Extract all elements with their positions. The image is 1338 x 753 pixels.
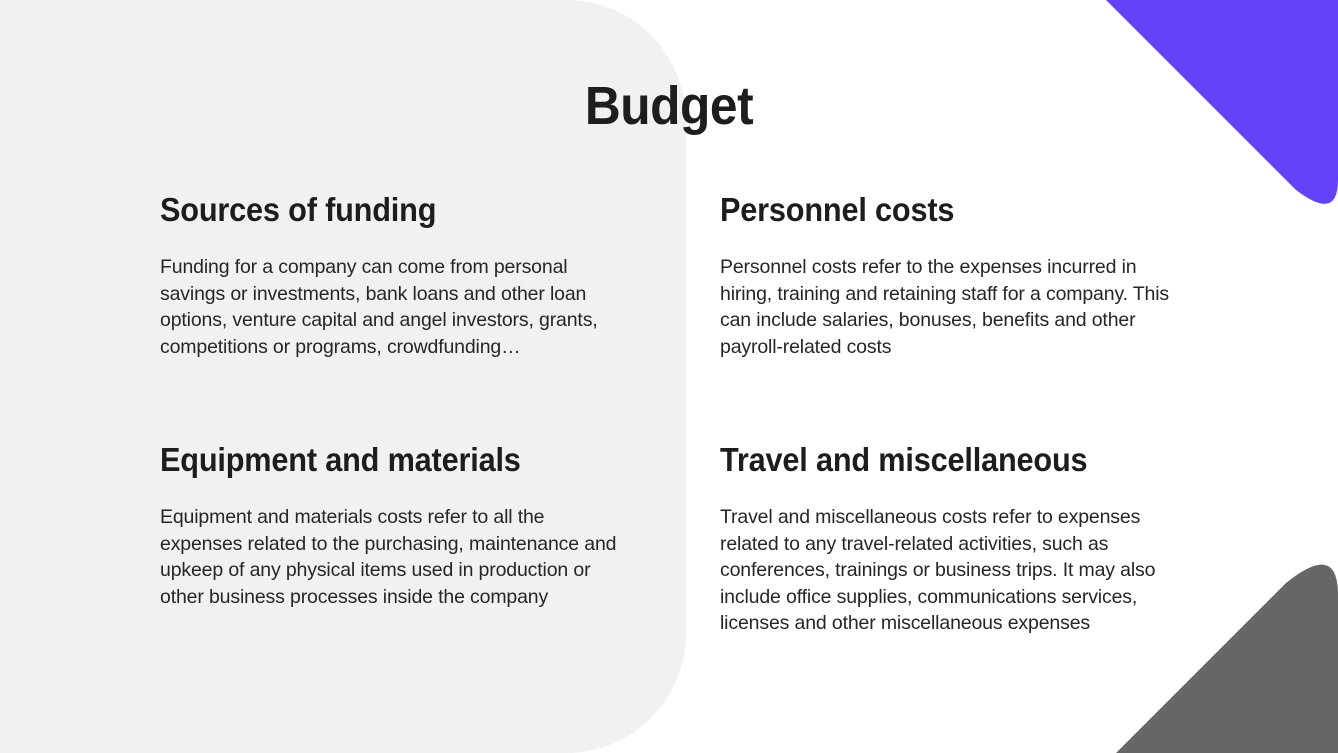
section-heading: Personnel costs bbox=[720, 192, 1157, 228]
section-body: Funding for a company can come from pers… bbox=[160, 254, 622, 360]
section-personnel-costs: Personnel costs Personnel costs refer to… bbox=[720, 192, 1190, 442]
slide-content: Budget Sources of funding Funding for a … bbox=[0, 0, 1338, 753]
section-body: Travel and miscellaneous costs refer to … bbox=[720, 504, 1190, 637]
section-heading: Equipment and materials bbox=[160, 442, 597, 478]
page-title: Budget bbox=[54, 78, 1285, 135]
slide-canvas: Budget Sources of funding Funding for a … bbox=[0, 0, 1338, 753]
section-heading: Sources of funding bbox=[160, 192, 597, 228]
section-body: Equipment and materials costs refer to a… bbox=[160, 504, 622, 610]
section-travel-and-miscellaneous: Travel and miscellaneous Travel and misc… bbox=[720, 442, 1190, 637]
sections-grid: Sources of funding Funding for a company… bbox=[160, 192, 1200, 637]
section-equipment-and-materials: Equipment and materials Equipment and ma… bbox=[160, 442, 630, 637]
section-sources-of-funding: Sources of funding Funding for a company… bbox=[160, 192, 630, 442]
section-body: Personnel costs refer to the expenses in… bbox=[720, 254, 1182, 360]
section-heading: Travel and miscellaneous bbox=[720, 442, 1157, 478]
